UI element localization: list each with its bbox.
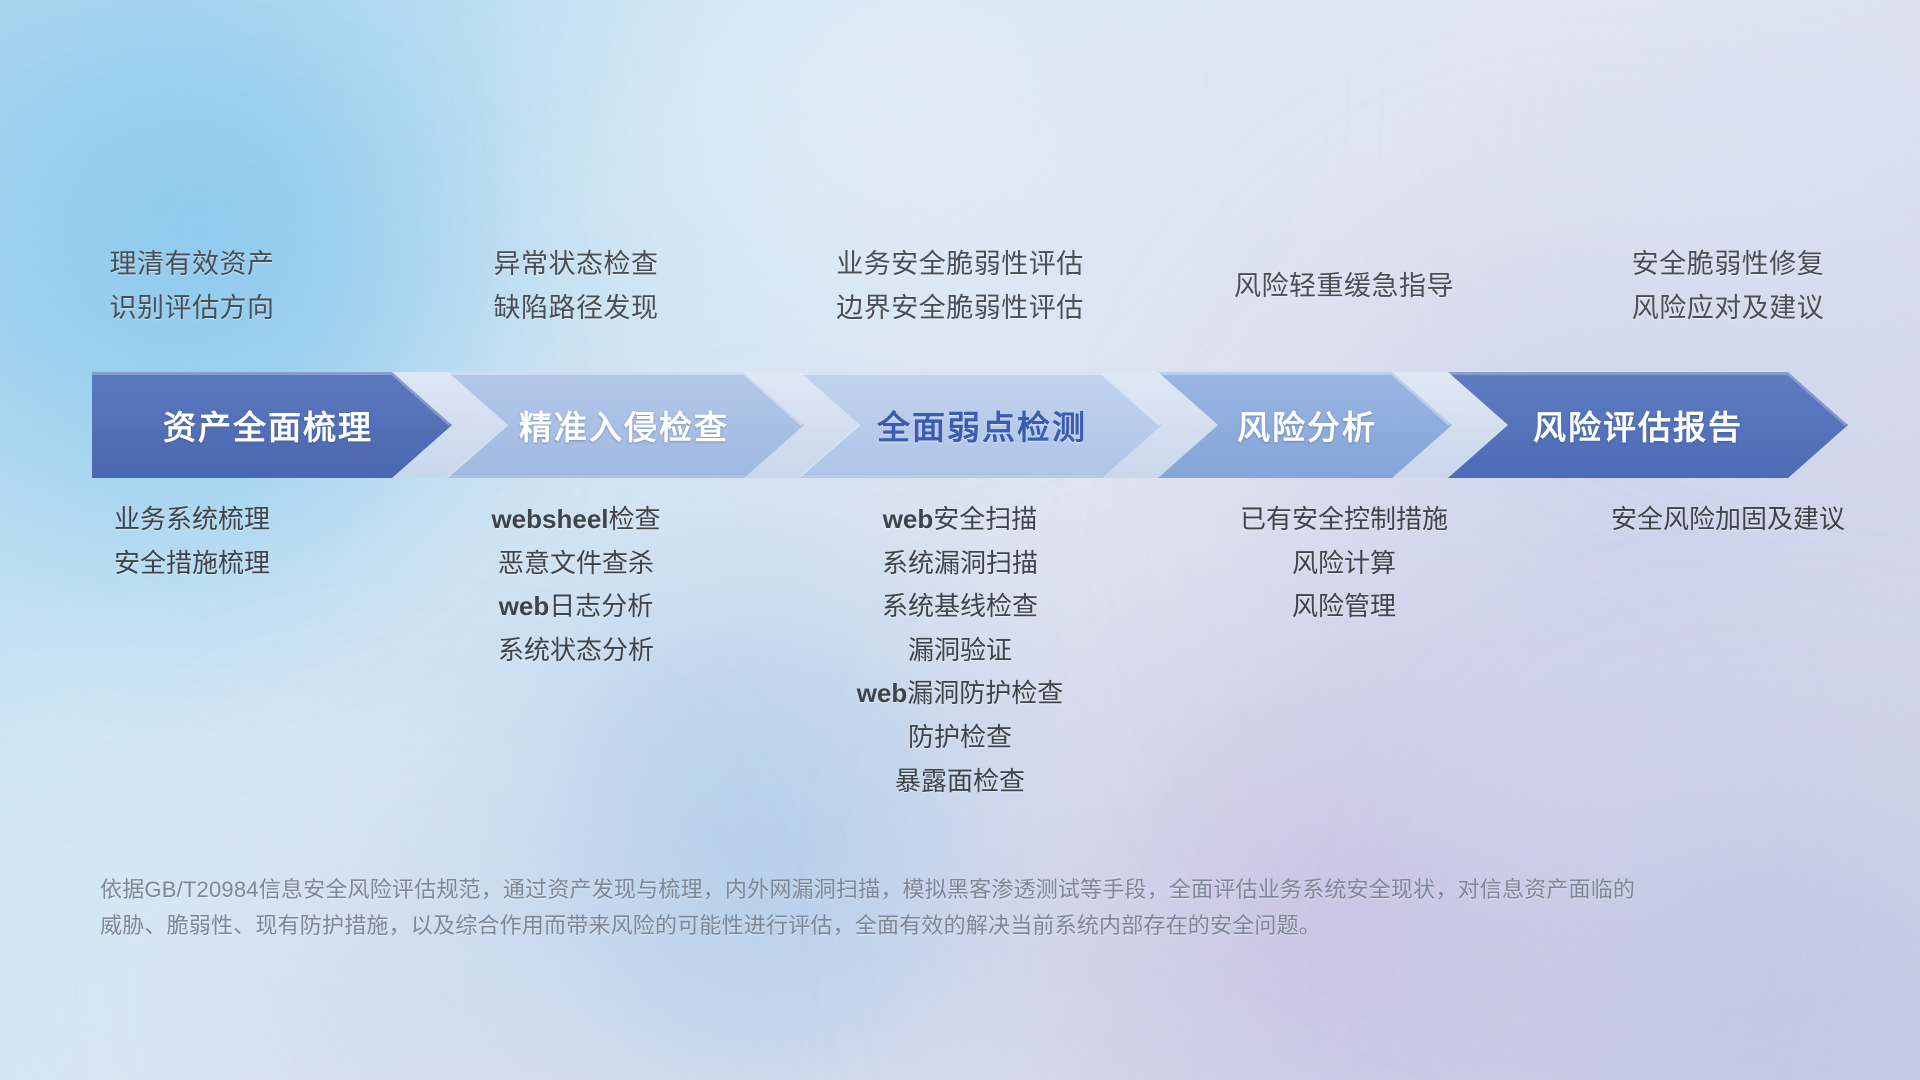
top-outcome-line: 识别评估方向 — [110, 295, 275, 322]
stage-details-3: web安全扫描 系统漏洞扫描 系统基线检查 漏洞验证 web漏洞防护检查 防护检… — [768, 505, 1152, 805]
detail-item: 系统基线检查 — [882, 592, 1038, 621]
stage-title-4[interactable]: 风险分析 — [1170, 372, 1444, 478]
stage-title-3[interactable]: 全面弱点检测 — [820, 372, 1144, 478]
top-outcomes-stage-1: 理清有效资产 识别评估方向 — [0, 222, 384, 350]
top-outcome-line: 异常状态检查 — [494, 251, 659, 278]
stage-title-1[interactable]: 资产全面梳理 — [92, 372, 444, 478]
detail-item: 安全措施梳理 — [114, 549, 270, 578]
top-outcomes-row: 理清有效资产 识别评估方向 异常状态检查 缺陷路径发现 业务安全脆弱性评估 边界… — [0, 222, 1920, 350]
top-outcome-line: 缺陷路径发现 — [494, 295, 659, 322]
top-outcome-line: 安全脆弱性修复 — [1632, 251, 1825, 278]
top-outcome-line: 边界安全脆弱性评估 — [836, 295, 1084, 322]
detail-item: websheel检查 — [491, 505, 660, 534]
top-outcome-line: 理清有效资产 — [110, 251, 275, 278]
stage-details-5: 安全风险加固及建议 — [1536, 505, 1920, 805]
top-outcomes-stage-2: 异常状态检查 缺陷路径发现 — [384, 222, 768, 350]
detail-item: 安全风险加固及建议 — [1611, 505, 1845, 534]
detail-item: 系统状态分析 — [498, 636, 654, 665]
top-outcomes-stage-5: 安全脆弱性修复 风险应对及建议 — [1536, 222, 1920, 350]
footer-description: 依据GB/T20984信息安全风险评估规范，通过资产发现与梳理，内外网漏洞扫描，… — [100, 872, 1640, 943]
detail-item: 风险管理 — [1292, 592, 1396, 621]
detail-item: 业务系统梳理 — [114, 505, 270, 534]
stage-title-5[interactable]: 风险评估报告 — [1468, 372, 1808, 478]
stage-details-1: 业务系统梳理 安全措施梳理 — [0, 505, 384, 805]
stage-title-2[interactable]: 精准入侵检查 — [464, 372, 784, 478]
detail-item: web安全扫描 — [883, 505, 1038, 534]
arrow-label-overlay: 资产全面梳理 精准入侵检查 全面弱点检测 风险分析 风险评估报告 — [92, 372, 1848, 478]
top-outcomes-stage-4: 风险轻重缓急指导 — [1152, 222, 1536, 350]
detail-item: 防护检查 — [908, 723, 1012, 752]
detail-item: 恶意文件查杀 — [498, 549, 654, 578]
top-outcome-line: 风险应对及建议 — [1632, 295, 1825, 322]
detail-item: 风险计算 — [1292, 549, 1396, 578]
detail-item: 漏洞验证 — [908, 636, 1012, 665]
detail-item: web漏洞防护检查 — [857, 679, 1064, 708]
detail-item: web日志分析 — [499, 592, 654, 621]
top-outcome-line: 业务安全脆弱性评估 — [836, 251, 1084, 278]
detail-item: 暴露面检查 — [895, 767, 1025, 796]
top-outcomes-stage-3: 业务安全脆弱性评估 边界安全脆弱性评估 — [768, 222, 1152, 350]
detail-item: 已有安全控制措施 — [1240, 505, 1448, 534]
stage-details-4: 已有安全控制措施 风险计算 风险管理 — [1152, 505, 1536, 805]
slide-canvas: 理清有效资产 识别评估方向 异常状态检查 缺陷路径发现 业务安全脆弱性评估 边界… — [0, 0, 1920, 1080]
top-outcome-line: 风险轻重缓急指导 — [1234, 273, 1454, 300]
detail-item: 系统漏洞扫描 — [882, 549, 1038, 578]
stage-details-row: 业务系统梳理 安全措施梳理 websheel检查 恶意文件查杀 web日志分析 … — [0, 505, 1920, 805]
process-arrow-band: 资产全面梳理 精准入侵检查 全面弱点检测 风险分析 风险评估报告 — [92, 372, 1848, 478]
stage-details-2: websheel检查 恶意文件查杀 web日志分析 系统状态分析 — [384, 505, 768, 805]
